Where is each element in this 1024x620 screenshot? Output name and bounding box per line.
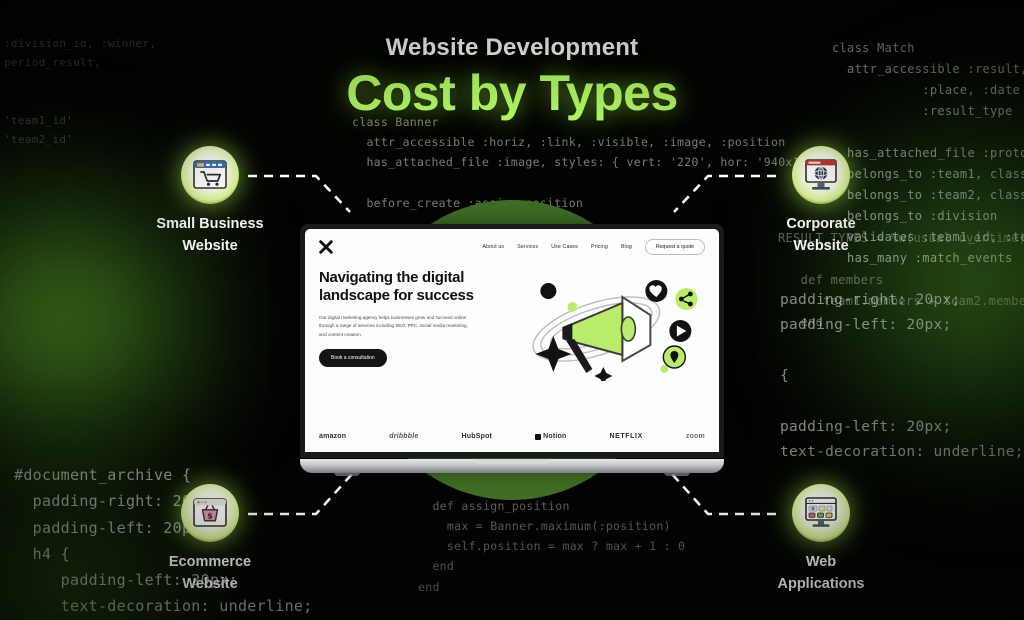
laptop-screen-content: About us Services Use Cases Pricing Blog…: [305, 229, 719, 452]
laptop-mockup: About us Services Use Cases Pricing Blog…: [300, 224, 724, 473]
brand-zoom: zoom: [686, 433, 705, 440]
site-headline: Navigating the digital landscape for suc…: [319, 269, 504, 306]
node-corporate[interactable]: Corporate Website: [746, 146, 896, 258]
nav-link-use-cases[interactable]: Use Cases: [551, 244, 578, 250]
laptop-screen: About us Services Use Cases Pricing Blog…: [300, 224, 724, 458]
website-mockup: About us Services Use Cases Pricing Blog…: [305, 229, 719, 452]
node-small-business[interactable]: Small Business Website: [135, 146, 285, 258]
node-web-applications-label: Web Applications: [746, 552, 896, 596]
laptop-base: [300, 459, 724, 473]
label-line-2: Website: [182, 576, 237, 592]
site-paragraph: Our digital marketing agency helps busin…: [319, 314, 469, 339]
dot-green: [568, 302, 578, 312]
label-line-1: Ecommerce: [169, 554, 251, 570]
background-code-middle-bottom: def assign_position max = Banner.maximum…: [418, 496, 685, 597]
laptop-foot-right: [664, 472, 690, 476]
badge-location: [664, 346, 686, 368]
node-small-business-label: Small Business Website: [135, 214, 285, 258]
site-illustration: [504, 269, 705, 381]
node-ecommerce-label: Ecommerce Website: [135, 552, 285, 596]
browser-cart-icon: [192, 159, 228, 191]
background-code-center-right-css: padding-right: 20px; padding-left: 20px;…: [780, 288, 1024, 466]
node-ecommerce[interactable]: $ Ecommerce Website: [135, 484, 285, 596]
badge-share: [676, 288, 698, 310]
sparkle-small-icon: [595, 367, 613, 381]
corporate-puck: [792, 146, 850, 204]
site-nav-links: About us Services Use Cases Pricing Blog…: [483, 239, 706, 255]
label-line-1: Corporate: [786, 216, 855, 232]
label-line-1: Web: [806, 554, 836, 570]
site-navbar: About us Services Use Cases Pricing Blog…: [319, 239, 705, 255]
label-line-2: Website: [793, 238, 848, 254]
green-glow-right: [774, 60, 1024, 500]
desktop-globe-icon: [803, 158, 839, 192]
badge-play: [670, 320, 692, 342]
node-web-applications[interactable]: Web Applications: [746, 484, 896, 596]
label-line-2: Applications: [777, 576, 864, 592]
brand-notion: Notion: [535, 433, 566, 440]
browser-dashboard-icon: [803, 496, 839, 530]
infographic-stage: :division_id, :winner, period_result, 't…: [0, 0, 1024, 620]
brand-netflix: NETFLIX: [609, 433, 642, 440]
site-logo-strip: amazon dribbble HubSpot Notion NETFLIX z…: [319, 433, 705, 440]
nav-link-pricing[interactable]: Pricing: [591, 244, 608, 250]
nav-link-about-us[interactable]: About us: [483, 244, 505, 250]
label-line-1: Small Business: [156, 216, 263, 232]
laptop-foot-left: [334, 472, 360, 476]
megaphone-orbit-illustration: [504, 269, 705, 381]
site-hero-text: Navigating the digital landscape for suc…: [319, 269, 504, 381]
svg-text:$: $: [207, 511, 213, 520]
ecommerce-puck: $: [181, 484, 239, 542]
node-corporate-label: Corporate Website: [746, 214, 896, 258]
notion-square-icon: [535, 434, 541, 440]
label-line-2: Website: [182, 238, 237, 254]
badge-heart: [646, 280, 668, 302]
laptop-notch: [475, 459, 549, 464]
nav-link-blog[interactable]: Blog: [621, 244, 632, 250]
brand-dribbble: dribbble: [389, 433, 418, 440]
page-subtitle: Website Development: [0, 34, 1024, 62]
site-hero: Navigating the digital landscape for suc…: [319, 269, 705, 381]
page-title: Cost by Types: [0, 64, 1024, 122]
brand-notion-label: Notion: [543, 433, 566, 440]
web-applications-puck: [792, 484, 850, 542]
book-a-consultation-button[interactable]: Book a consultation: [319, 349, 387, 367]
brand-amazon: amazon: [319, 433, 346, 440]
nav-link-services[interactable]: Services: [517, 244, 538, 250]
request-a-quote-button[interactable]: Request a quote: [645, 239, 705, 255]
dot-black: [541, 283, 557, 299]
browser-basket-icon: $: [192, 497, 228, 529]
brand-hubspot: HubSpot: [462, 433, 493, 440]
small-business-puck: [181, 146, 239, 204]
x-logo-icon[interactable]: [319, 240, 333, 254]
